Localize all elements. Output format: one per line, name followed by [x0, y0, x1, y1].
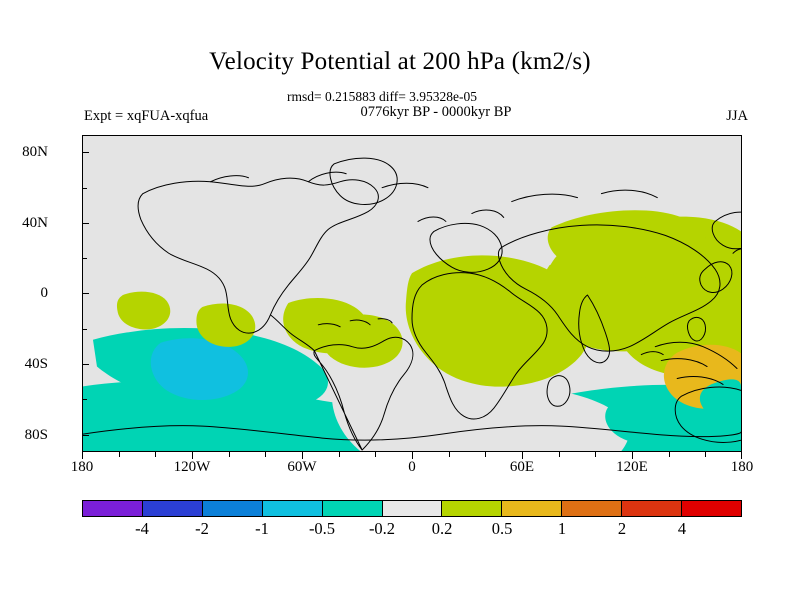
colorbar-label-7: 1	[532, 519, 592, 539]
ytick-40N	[82, 223, 89, 224]
xtick-minor	[485, 452, 486, 457]
colorbar-label-8: 2	[592, 519, 652, 539]
xtick-minor	[119, 452, 120, 457]
xtick-180W	[82, 452, 83, 459]
colorbar-band-1	[142, 501, 202, 516]
xtick-minor	[595, 452, 596, 457]
ytick-80N	[82, 152, 89, 153]
rmsd-annotation: rmsd= 0.215883 diff= 3.95328e-05	[0, 89, 782, 105]
xtick-60E	[522, 452, 523, 459]
xtick-60W	[302, 452, 303, 459]
colorbar-band-8	[561, 501, 621, 516]
ytick-minor	[82, 399, 87, 400]
colorbar-band-7	[501, 501, 561, 516]
xtick-label-60E: 60E	[487, 460, 557, 475]
xtick-180E	[741, 452, 742, 459]
colorbar-label-3: -0.5	[292, 519, 352, 539]
ytick-minor	[82, 258, 87, 259]
xtick-label-120E: 120E	[597, 460, 667, 475]
xtick-label-60W: 60W	[267, 460, 337, 475]
xtick-minor	[705, 452, 706, 457]
map-plot-area	[82, 135, 742, 452]
xtick-120E	[632, 452, 633, 459]
colorbar	[82, 500, 742, 517]
xtick-label-120W: 120W	[157, 460, 227, 475]
xtick-label-0: 0	[377, 460, 447, 475]
colorbar-band-9	[621, 501, 681, 516]
xtick-label-180W: 180	[47, 460, 117, 475]
ytick-label-80N: 80N	[0, 145, 48, 160]
xtick-minor	[229, 452, 230, 457]
colorbar-band-10	[681, 501, 741, 516]
ytick-40S	[82, 364, 89, 365]
ytick-80S	[82, 435, 89, 436]
colorbar-band-2	[202, 501, 262, 516]
colorbar-label-2: -1	[232, 519, 292, 539]
xtick-minor	[669, 452, 670, 457]
xtick-minor	[339, 452, 340, 457]
colorbar-label-9: 4	[652, 519, 712, 539]
colorbar-label-5: 0.2	[412, 519, 472, 539]
colorbar-label-4: -0.2	[352, 519, 412, 539]
ytick-label-40N: 40N	[0, 216, 48, 231]
xtick-minor	[265, 452, 266, 457]
xtick-minor	[375, 452, 376, 457]
page-title: Velocity Potential at 200 hPa (km2/s)	[0, 48, 800, 76]
xtick-minor	[559, 452, 560, 457]
velocity-potential-field	[83, 136, 741, 451]
ytick-label-80S: 80S	[0, 428, 48, 443]
xtick-minor	[155, 452, 156, 457]
colorbar-label-0: -4	[112, 519, 172, 539]
colorbar-band-5	[382, 501, 442, 516]
ytick-label-0: 0	[0, 286, 48, 301]
xtick-minor	[449, 452, 450, 457]
ytick-0	[82, 293, 89, 294]
ytick-minor	[82, 188, 87, 189]
colorbar-label-6: 0.5	[472, 519, 532, 539]
xtick-120W	[192, 452, 193, 459]
colorbar-label-1: -2	[172, 519, 232, 539]
season-annotation: JJA	[726, 108, 748, 125]
colorbar-band-0	[83, 501, 142, 516]
experiment-annotation: Expt = xqFUA-xqfua	[84, 108, 208, 125]
ytick-minor	[82, 329, 87, 330]
xtick-0	[412, 452, 413, 459]
ytick-label-40S: 40S	[0, 357, 48, 372]
colorbar-band-4	[322, 501, 382, 516]
xtick-label-180E: 180	[707, 460, 777, 475]
colorbar-band-6	[441, 501, 501, 516]
colorbar-band-3	[262, 501, 322, 516]
